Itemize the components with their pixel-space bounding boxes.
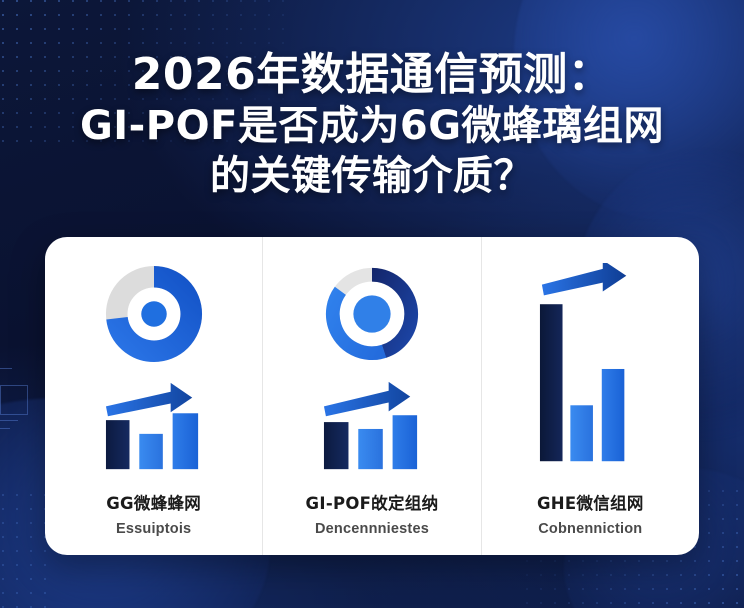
column-2-label-cn: GI-POF敀定组纳 bbox=[263, 490, 480, 514]
card-column-3[interactable]: GHE微信组网 Cobnenniction bbox=[481, 237, 699, 555]
decor-line-2 bbox=[0, 420, 18, 421]
column-2-visuals bbox=[263, 263, 480, 473]
column-3-visuals bbox=[482, 263, 699, 473]
card-column-2[interactable]: GI-POF敀定组纳 Dencennniestes bbox=[262, 237, 480, 555]
donut-chart-2 bbox=[312, 263, 432, 367]
bar-chart-1 bbox=[89, 377, 219, 473]
donut-chart-1 bbox=[94, 263, 214, 367]
content-card: GG微蜂蜂网 Essuiptois bbox=[45, 237, 699, 555]
title-line-1: 2026年数据通信预测： bbox=[0, 50, 744, 100]
bar-chart-2 bbox=[307, 377, 437, 473]
decor-rectangle-outline bbox=[0, 385, 28, 415]
column-3-label-cn: GHE微信组网 bbox=[482, 490, 699, 514]
column-3-labels: GHE微信组网 Cobnenniction bbox=[482, 490, 699, 537]
column-3-label-en: Cobnenniction bbox=[482, 521, 699, 537]
decor-line-3 bbox=[0, 428, 10, 429]
title-line-2: GI-POF是否成为6G微蜂璃组网 bbox=[0, 104, 744, 150]
column-2-label-en: Dencennniestes bbox=[263, 521, 480, 537]
poster-title: 2026年数据通信预测： GI-POF是否成为6G微蜂璃组网 的关键传输介质？ bbox=[0, 50, 744, 199]
card-column-1[interactable]: GG微蜂蜂网 Essuiptois bbox=[45, 237, 262, 555]
column-2-labels: GI-POF敀定组纳 Dencennniestes bbox=[263, 490, 480, 537]
column-1-label-cn: GG微蜂蜂网 bbox=[45, 490, 262, 514]
column-1-visuals bbox=[45, 263, 262, 473]
poster-root: 2026年数据通信预测： GI-POF是否成为6G微蜂璃组网 的关键传输介质？ bbox=[0, 0, 744, 608]
bar-chart-3 bbox=[515, 263, 665, 473]
title-line-3: 的关键传输介质？ bbox=[0, 154, 744, 200]
column-1-label-en: Essuiptois bbox=[45, 521, 262, 537]
column-1-labels: GG微蜂蜂网 Essuiptois bbox=[45, 490, 262, 537]
decor-line-1 bbox=[0, 368, 12, 369]
